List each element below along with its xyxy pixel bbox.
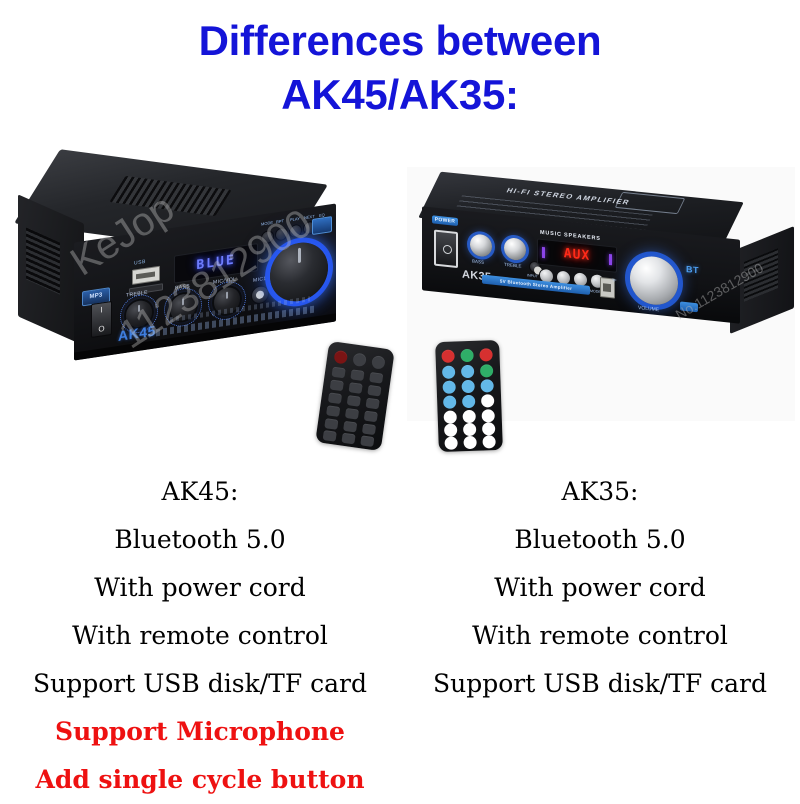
- remote45-key-8[interactable]: [341, 433, 355, 445]
- ak35-treble-label: TREBLE: [504, 262, 522, 269]
- remote45-key-4[interactable]: [324, 418, 338, 430]
- remote35-eq2-key[interactable]: [480, 364, 493, 377]
- ak45-power-on-mark: I: [92, 304, 111, 316]
- ak45-repeat-label: RPT: [276, 218, 284, 224]
- ak35-treble-knob[interactable]: [504, 237, 526, 261]
- remote35-power-key[interactable]: [441, 349, 454, 362]
- ak35-bass-label: BASS: [472, 259, 484, 265]
- ak45-play-label: PLAY: [290, 216, 300, 222]
- remote35-voldown-key[interactable]: [443, 395, 456, 408]
- remote45-key-r3c2[interactable]: [348, 382, 362, 394]
- ak45-mic1-jack[interactable]: [252, 286, 268, 304]
- remote35-repeat-key[interactable]: [460, 349, 473, 362]
- ak45-feature-5: Add single cycle button: [0, 756, 400, 804]
- remote45-mute-key[interactable]: [352, 352, 367, 367]
- remote35-key-9[interactable]: [482, 435, 495, 448]
- remote45-key-r4c2[interactable]: [347, 395, 361, 407]
- ak45-volume-knob[interactable]: [270, 239, 328, 306]
- ak45-play-button[interactable]: [290, 225, 301, 238]
- column-ak45: AK45: Bluetooth 5.0 With power cord With…: [0, 468, 400, 804]
- remote35-key-5[interactable]: [463, 423, 476, 436]
- ak35-bluetooth-label: BT: [686, 264, 699, 275]
- remote35-key-2[interactable]: [462, 410, 475, 423]
- ak45-mic1-label: MIC1: [253, 276, 267, 284]
- ak45-feature-0: Bluetooth 5.0: [0, 516, 400, 564]
- ak35-power-switch[interactable]: [434, 230, 458, 269]
- remote45-key-r2c2[interactable]: [350, 369, 364, 381]
- ak35-feature-3: Support USB disk/TF card: [400, 660, 800, 708]
- remote45-key-1[interactable]: [326, 405, 340, 417]
- remote45-key-9[interactable]: [360, 435, 374, 447]
- remote35-key-3[interactable]: [481, 409, 494, 422]
- ak45-power-switch[interactable]: I O: [91, 301, 112, 338]
- ak35-input-label: INPUT: [527, 273, 538, 278]
- ak45-power-off-mark: O: [92, 323, 111, 335]
- ak45-usb-port[interactable]: [132, 266, 160, 285]
- remote35-eq-key[interactable]: [442, 365, 455, 378]
- remote45-key-r3c1[interactable]: [330, 380, 344, 392]
- ak45-bluetooth-badge: [312, 216, 332, 235]
- ak35-display: AUX: [537, 238, 617, 272]
- remote45-power-key[interactable]: [333, 350, 348, 365]
- remote45-mode-key[interactable]: [371, 355, 386, 370]
- product-image-ak45: MP3 USB BLUE I O TREBLE BASS MIC/VOL: [18, 167, 348, 392]
- ak35-volume-knob[interactable]: [630, 254, 678, 307]
- ak35-power-tag: POWER: [432, 215, 458, 226]
- ak35-remote-control: [435, 340, 503, 452]
- remote35-play-key[interactable]: [461, 380, 474, 393]
- remote35-next-key[interactable]: [480, 379, 493, 392]
- remote35-key-8[interactable]: [463, 436, 476, 449]
- remote35-volup-key[interactable]: [462, 395, 475, 408]
- ak35-column-heading: AK35:: [400, 468, 800, 516]
- ak35-display-text: AUX: [538, 243, 616, 266]
- ak35-corner-badge: [680, 301, 698, 312]
- remote35-key-7[interactable]: [444, 436, 457, 449]
- ak45-repeat-button[interactable]: [276, 228, 287, 241]
- remote45-key-5[interactable]: [343, 421, 357, 433]
- ak45-mode-label: MODE: [261, 220, 273, 227]
- remote45-key-3[interactable]: [364, 411, 378, 423]
- ak45-feature-2: With remote control: [0, 612, 400, 660]
- ak45-display: BLUE: [174, 243, 258, 284]
- ak45-usb-label: USB: [134, 259, 146, 267]
- ak45-remote-control: [315, 341, 395, 451]
- ak45-mode-button[interactable]: [262, 231, 273, 244]
- remote45-key-r2c3[interactable]: [369, 372, 383, 384]
- ak45-display-text: BLUE: [175, 249, 257, 276]
- remote35-key-0[interactable]: [481, 394, 494, 407]
- remote35-prev-key[interactable]: [442, 380, 455, 393]
- remote45-key-r4c3[interactable]: [365, 398, 379, 410]
- remote45-key-7[interactable]: [323, 430, 337, 442]
- ak45-column-heading: AK45:: [0, 468, 400, 516]
- title-line-1: Differences between: [0, 14, 800, 68]
- remote45-key-6[interactable]: [362, 423, 376, 435]
- remote35-ch-key[interactable]: [461, 365, 474, 378]
- ak45-feature-3: Support USB disk/TF card: [0, 660, 400, 708]
- column-ak35: AK35: Bluetooth 5.0 With power cord With…: [400, 468, 800, 708]
- remote45-key-r3c3[interactable]: [367, 385, 381, 397]
- ak35-feature-2: With remote control: [400, 612, 800, 660]
- title-line-2: AK45/AK35:: [0, 68, 800, 122]
- remote45-key-2[interactable]: [345, 408, 359, 420]
- ak35-tf-label: TF: [612, 278, 616, 282]
- remote35-mode-key[interactable]: [479, 348, 492, 361]
- remote45-key-r4c1[interactable]: [328, 392, 342, 404]
- ak45-feature-1: With power cord: [0, 564, 400, 612]
- remote35-key-6[interactable]: [482, 422, 495, 435]
- ak35-volume-label: VOLUME: [638, 305, 659, 313]
- page-title: Differences between AK45/AK35:: [0, 14, 800, 122]
- remote35-key-4[interactable]: [444, 423, 457, 436]
- ak45-feature-4: Support Microphone: [0, 708, 400, 756]
- product-images-area: MP3 USB BLUE I O TREBLE BASS MIC/VOL: [0, 155, 800, 465]
- ak35-feature-0: Bluetooth 5.0: [400, 516, 800, 564]
- ak35-feature-1: With power cord: [400, 564, 800, 612]
- remote45-key-r2c1[interactable]: [331, 367, 345, 379]
- remote35-key-1[interactable]: [444, 410, 457, 423]
- ak35-bass-knob[interactable]: [470, 233, 492, 257]
